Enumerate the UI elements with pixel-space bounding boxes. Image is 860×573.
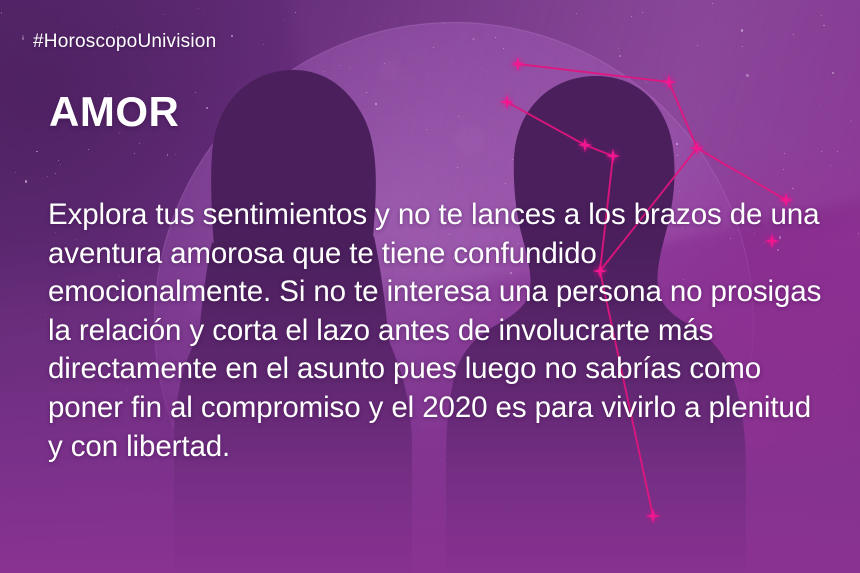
constellation-line (697, 148, 786, 200)
hashtag-label: #HoroscopoUnivision (33, 31, 216, 53)
constellation-line (585, 145, 613, 156)
constellation-star (662, 75, 677, 90)
page-title: AMOR (49, 91, 179, 133)
constellation-line (507, 102, 585, 145)
constellation-star (511, 57, 526, 72)
constellation-line (669, 82, 697, 148)
constellation-line (518, 64, 669, 82)
constellation-star (578, 138, 593, 153)
horoscope-body-text: Explora tus sentimientos y no te lances … (48, 196, 823, 466)
constellation-star (606, 149, 621, 164)
constellation-star (500, 95, 515, 110)
horoscope-card: #HoroscopoUnivision AMOR Explora tus sen… (0, 0, 860, 573)
constellation-star (646, 509, 661, 524)
